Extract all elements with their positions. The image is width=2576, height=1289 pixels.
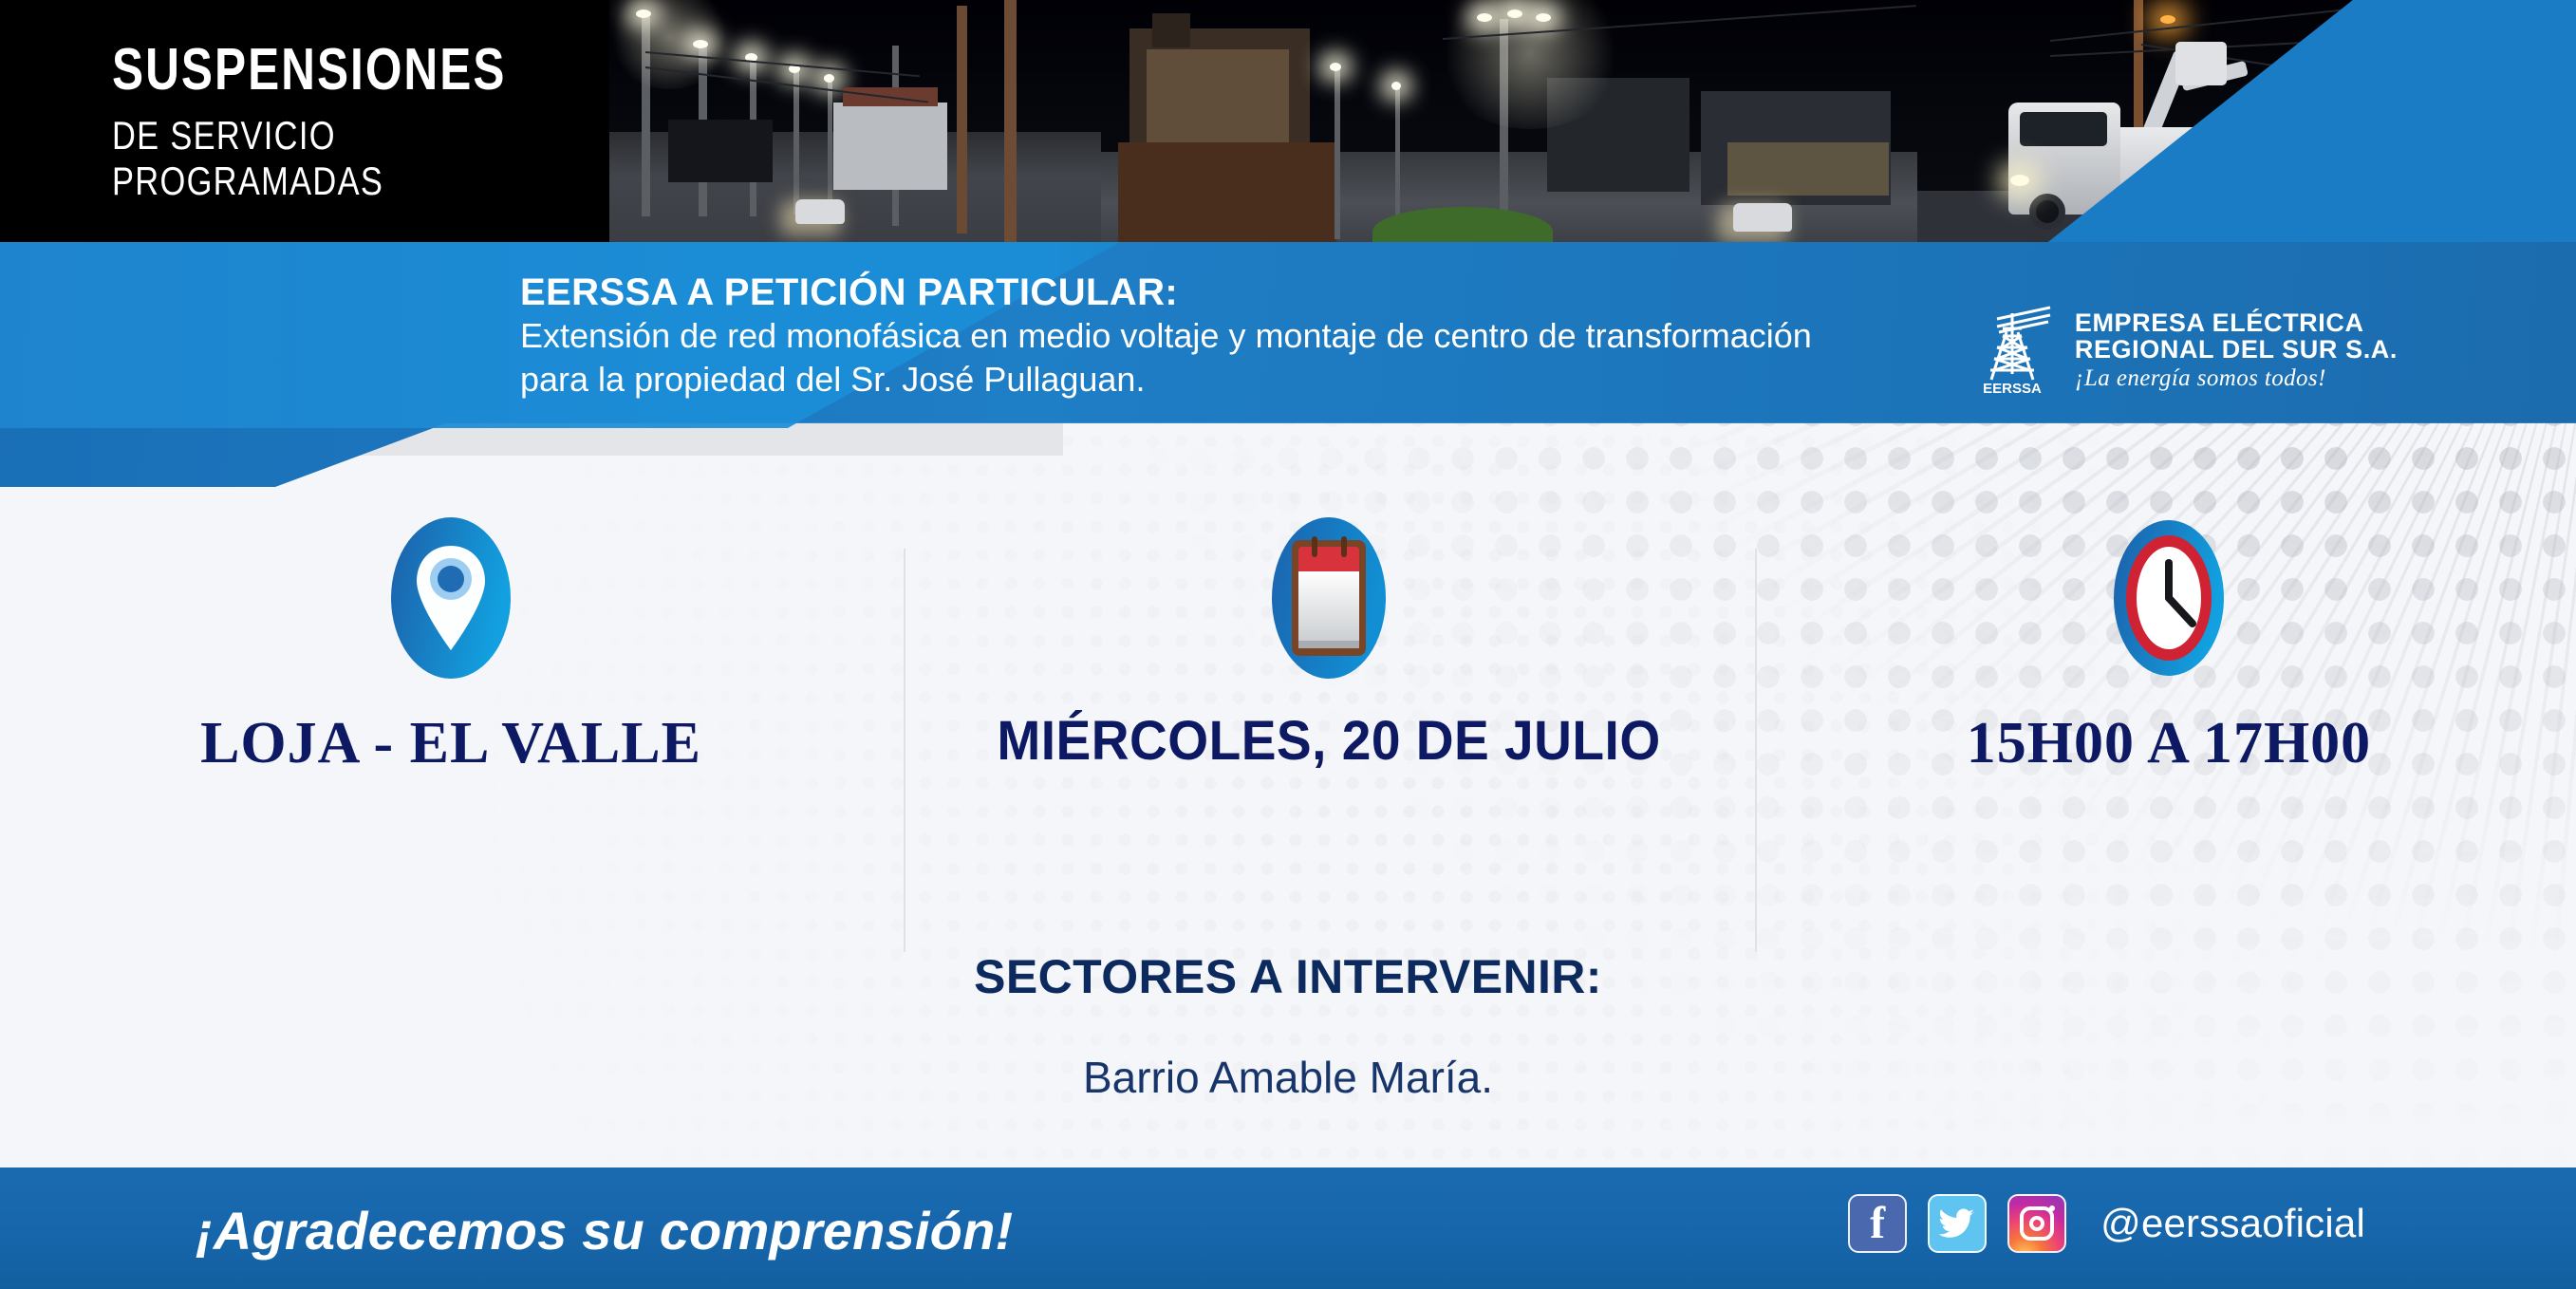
announcement-text: EERSSA A PETICIÓN PARTICULAR: Extensión …	[520, 271, 1812, 402]
instagram-frame-glyph	[2020, 1206, 2054, 1241]
info-column-time: 15H00 A 17H00	[1784, 513, 2553, 773]
logo-mark-text: EERSSA	[1983, 381, 2042, 397]
sectors-section: SECTORES A INTERVENIR: Barrio Amable Mar…	[0, 949, 2576, 1103]
photo-night-avenue-town	[1101, 0, 1917, 245]
twitter-icon[interactable]	[1928, 1194, 1987, 1253]
twitter-bird-glyph	[1938, 1207, 1976, 1240]
poster-title-block: SUSPENSIONES DE SERVICIO PROGRAMADAS	[0, 0, 609, 245]
eerssa-logo: EERSSA EMPRESA ELÉCTRICA REGIONAL DEL SU…	[1969, 304, 2398, 397]
poster-subtitle: DE SERVICIO PROGRAMADAS	[112, 113, 520, 204]
map-pin-icon	[38, 513, 864, 683]
facebook-glyph: f	[1870, 1203, 1885, 1243]
calendar-icon	[911, 513, 1746, 683]
info-column-location: LOJA - EL VALLE	[38, 513, 864, 773]
instagram-dot-glyph	[2049, 1205, 2055, 1211]
announcement-line-1: Extensión de red monofásica en medio vol…	[520, 314, 1812, 358]
photo-night-street-with-car	[607, 0, 1101, 245]
sectors-title: SECTORES A INTERVENIR:	[0, 949, 2576, 1004]
social-handle[interactable]: @eerssaoficial	[2100, 1201, 2365, 1246]
sectors-list: Barrio Amable María.	[0, 1052, 2576, 1103]
info-columns: LOJA - EL VALLE	[0, 513, 2576, 959]
poster-title: SUSPENSIONES	[112, 41, 510, 100]
footer-message: ¡Agradecemos su comprensión!	[196, 1200, 1013, 1261]
instagram-lens-glyph	[2029, 1216, 2044, 1231]
info-column-date: MIÉRCOLES, 20 DE JULIO	[911, 513, 1746, 769]
clock-icon	[1784, 513, 2553, 683]
time-value: 15H00 A 17H00	[1784, 714, 2553, 773]
social-links: f @eerssaoficial	[1848, 1194, 2365, 1253]
footer-bar: ¡Agradecemos su comprensión! f @eerssaof…	[0, 1168, 2576, 1289]
suspension-notice-poster: SUSPENSIONES DE SERVICIO PROGRAMADAS EER…	[0, 0, 2576, 1289]
location-value: LOJA - EL VALLE	[38, 714, 864, 773]
logo-name-line-1: EMPRESA ELÉCTRICA	[2075, 309, 2398, 337]
announcement-title: EERSSA A PETICIÓN PARTICULAR:	[520, 271, 1812, 314]
logo-name-line-2: REGIONAL DEL SUR S.A.	[2075, 336, 2398, 364]
logo-wordmark: EMPRESA ELÉCTRICA REGIONAL DEL SUR S.A. …	[2075, 309, 2398, 392]
logo-tagline: ¡La energía somos todos!	[2075, 366, 2398, 392]
facebook-icon[interactable]: f	[1848, 1194, 1907, 1253]
transmission-tower-icon: EERSSA	[1969, 304, 2056, 397]
date-value: MIÉRCOLES, 20 DE JULIO	[932, 714, 1726, 769]
instagram-icon[interactable]	[2007, 1194, 2066, 1253]
announcement-line-2: para la propiedad del Sr. José Pullaguan…	[520, 358, 1812, 402]
